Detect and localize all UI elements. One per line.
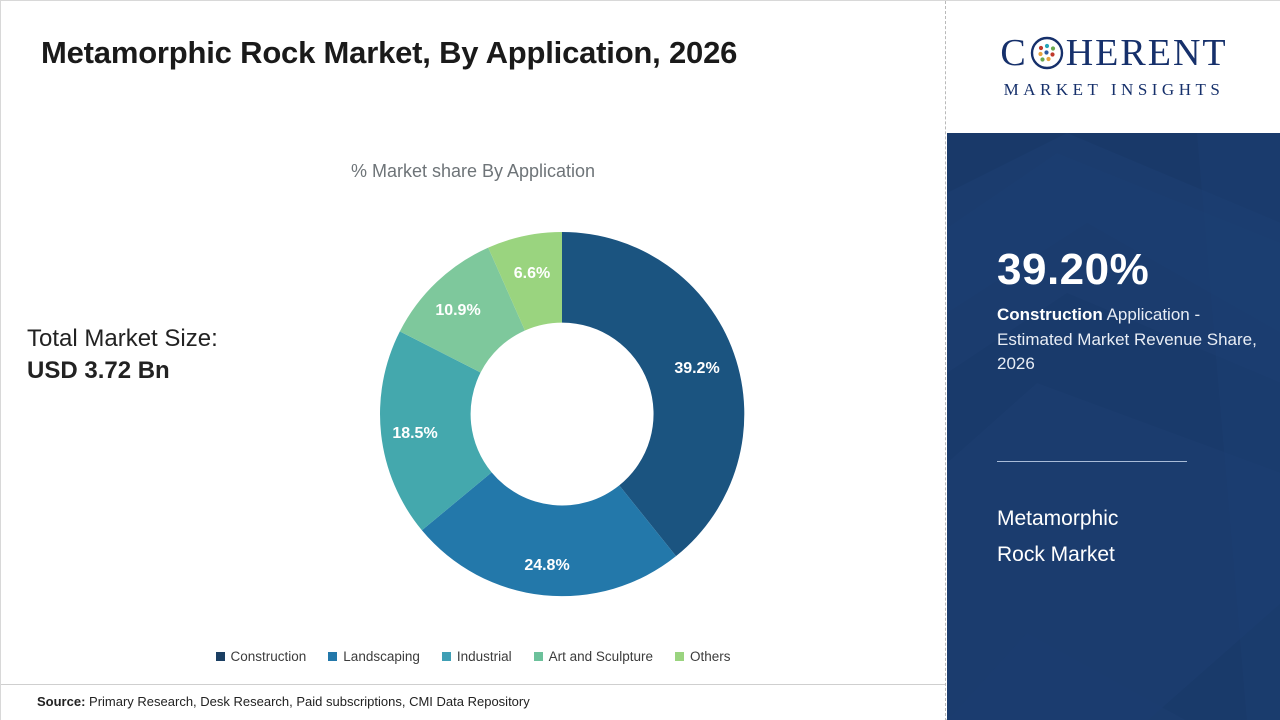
legend-item-landscaping: Landscaping <box>328 649 420 664</box>
donut-chart: 39.2% 24.8% 18.5% 10.9% 6.6% <box>377 229 747 599</box>
chart-legend: Construction Landscaping Industrial Art … <box>1 649 945 664</box>
chart-subtitle: % Market share By Application <box>1 161 945 182</box>
panel-divider <box>945 1 946 720</box>
chart-page: Metamorphic Rock Market, By Application,… <box>0 0 1280 720</box>
legend-label: Construction <box>231 649 307 664</box>
legend-item-construction: Construction <box>216 649 307 664</box>
legend-item-industrial: Industrial <box>442 649 512 664</box>
info-panel: C HERENT MARKET INSIGH <box>947 1 1280 720</box>
divider <box>997 461 1187 462</box>
donut-label-art-and-sculpture: 10.9% <box>435 302 480 320</box>
market-name: Metamorphic Rock Market <box>997 501 1257 572</box>
logo-wordmark-top: C HERENT <box>1000 34 1227 72</box>
legend-label: Industrial <box>457 649 512 664</box>
chart-panel: Metamorphic Rock Market, By Application,… <box>1 1 945 720</box>
legend-item-art-and-sculpture: Art and Sculpture <box>534 649 653 664</box>
source-text: Primary Research, Desk Research, Paid su… <box>89 694 530 709</box>
brand-logo: C HERENT MARKET INSIGH <box>947 1 1280 133</box>
legend-label: Art and Sculpture <box>549 649 653 664</box>
legend-label: Others <box>690 649 731 664</box>
donut-chart-svg <box>377 229 747 599</box>
total-market-value: USD 3.72 Bn <box>27 355 317 387</box>
donut-label-others: 6.6% <box>514 265 550 283</box>
legend-swatch-icon <box>442 652 451 661</box>
source-note: Source: Primary Research, Desk Research,… <box>37 694 530 709</box>
legend-swatch-icon <box>328 652 337 661</box>
legend-item-others: Others <box>675 649 731 664</box>
total-market-label: Total Market Size: <box>27 325 218 352</box>
stat-panel: 39.20% Construction Application - Estima… <box>947 133 1280 720</box>
page-title: Metamorphic Rock Market, By Application,… <box>41 35 921 71</box>
total-market-size: Total Market Size: USD 3.72 Bn <box>27 323 317 388</box>
legend-swatch-icon <box>675 652 684 661</box>
legend-label: Landscaping <box>343 649 420 664</box>
market-name-line2: Rock Market <box>997 537 1257 573</box>
background-decoration <box>947 133 1280 720</box>
stat-description: Construction Application - Estimated Mar… <box>997 303 1265 377</box>
donut-label-construction: 39.2% <box>674 360 719 378</box>
divider <box>1 684 945 685</box>
logo-wordmark-bottom: MARKET INSIGHTS <box>1004 80 1225 100</box>
source-label: Source: <box>37 694 85 709</box>
globe-icon <box>1030 36 1064 70</box>
legend-swatch-icon <box>534 652 543 661</box>
legend-swatch-icon <box>216 652 225 661</box>
market-name-line1: Metamorphic <box>997 501 1257 537</box>
stat-percent: 39.20% <box>997 245 1149 295</box>
donut-label-landscaping: 24.8% <box>524 557 569 575</box>
donut-label-industrial: 18.5% <box>392 425 437 443</box>
stat-description-strong: Construction <box>997 305 1103 324</box>
